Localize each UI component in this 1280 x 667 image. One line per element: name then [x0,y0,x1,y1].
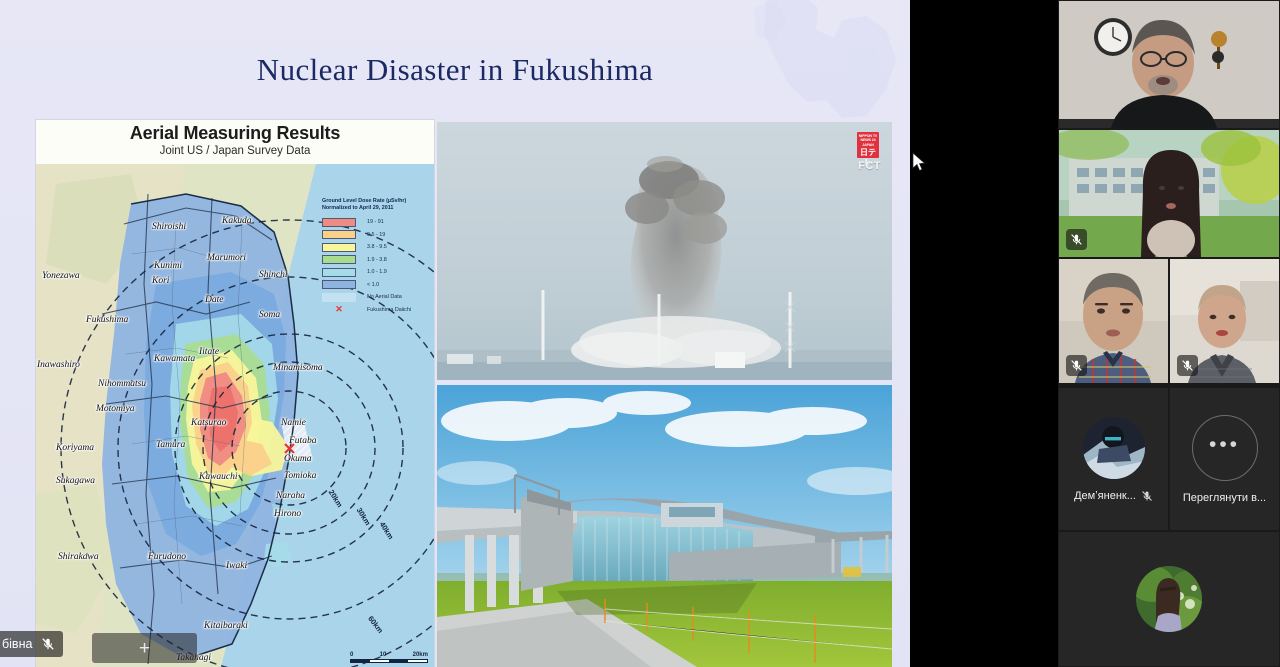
legend-label: 3.8 - 9.5 [367,244,387,250]
legend-title-line2: Normalized to April 29, 2011 [322,205,430,212]
map-city-label: Kunimi [154,261,182,271]
legend-site-marker: ✕ [322,305,356,314]
map-title: Aerial Measuring Results [36,123,434,144]
map-subtitle: Joint US / Japan Survey Data [36,145,434,157]
map-city-label: Nihommatsu [98,379,146,389]
legend-title-line1: Ground Level Dose Rate (µSv/hr) [322,198,430,205]
map-city-label: Motomiya [96,404,135,414]
legend-label: 1.0 - 1.9 [367,269,387,275]
zoom-in-icon[interactable]: + [139,639,150,658]
mic-muted-icon [1066,355,1087,376]
map-city-label: Katsurao [191,418,226,428]
legend-label: 9.5 - 19 [367,232,385,238]
map-city-label: Kitaibaraki [204,621,248,631]
map-city-label: Okuma [284,454,311,464]
map-city-label: Iwaki [226,561,247,571]
map-city-label: Kawamata [154,354,195,364]
map-city-label: Furudono [148,552,186,562]
map-city-label: Shiroishi [152,222,186,232]
slide-title: Nuclear Disaster in Fukushima [0,52,910,88]
mouse-cursor [912,152,926,172]
tile-avatar-demyanenko[interactable]: Демʼяненк... [1059,388,1168,530]
tile-speaker-video[interactable] [1059,1,1279,128]
legend-row: 3.8 - 9.5 [322,242,430,253]
legend-row: 1.9 - 3.8 [322,254,430,265]
photo-modern-building [437,385,892,667]
map-city-label: Hirono [274,509,301,519]
speaker-webcam-frame [1059,1,1279,128]
meeting-screen: Nuclear Disaster in Fukushima Aerial Mea… [0,0,1280,667]
zoom-control-overlay[interactable]: + [92,633,197,663]
nippon-tv-logo: NIPPON TV NEWS 24 JAPAN 日テレ [857,132,879,158]
map-header: Aerial Measuring Results Joint US / Japa… [36,120,434,164]
avatar-name: Демʼяненк... [1074,490,1136,502]
map-city-label: Marumori [207,253,246,263]
map-city-label: Inawashiro [37,360,80,370]
presenter-name: бівна [2,637,32,651]
legend-swatch [322,218,356,227]
legend-swatch [322,230,356,239]
map-city-label: Tamura [156,440,185,450]
legend-label: 19 - 91 [367,219,384,225]
legend-row: 1.0 - 1.9 [322,267,430,278]
ellipsis-icon[interactable]: ••• [1209,434,1240,455]
map-city-label: Shirakawa [58,552,99,562]
photo-reactor-explosion: NIPPON TV NEWS 24 JAPAN 日テレ FCT [437,122,892,380]
tile-participant-2[interactable] [1059,130,1279,257]
legend-swatch [322,243,356,252]
explosion-illustration [437,122,892,380]
legend-label: 1.9 - 3.8 [367,257,387,263]
legend-label-nodata: No Aerial Data [367,294,402,300]
avatar-image [1083,417,1145,479]
legend-swatch [322,280,356,289]
tile-view-more-participants[interactable]: ••• Переглянути в... [1170,388,1279,530]
avatar [1136,566,1202,632]
avatar-image [1136,566,1202,632]
mic-muted-icon [1066,229,1087,250]
tile-participant-3[interactable] [1059,259,1168,383]
legend-row: 9.5 - 19 [322,229,430,240]
map-city-label: Yonezawa [42,271,80,281]
map-city-label: Tomioka [284,471,316,481]
map-body: Yonezawa Shiroishi Kakuda Kunimi Kori Ma… [36,164,434,667]
view-more-label: Переглянути в... [1183,492,1266,504]
legend-swatch [322,268,356,277]
map-city-label: Shinchi [259,270,288,280]
map-city-label: Kawauchi [199,472,238,482]
mic-muted-icon [41,637,55,651]
legend-swatch [322,255,356,264]
legend-row-nodata: No Aerial Data [322,292,430,303]
map-city-label: Namie [281,418,306,428]
map-city-label: Sukagawa [56,476,95,486]
scalebar-right: 20km [413,652,428,658]
map-city-label: Fukushima [86,315,128,325]
legend-row: 19 - 91 [322,217,430,228]
legend-row: < 1.0 [322,279,430,290]
tile-participant-4[interactable] [1170,259,1279,383]
map-city-label: Iitate [199,347,219,357]
shared-screen-stage[interactable]: Nuclear Disaster in Fukushima Aerial Mea… [0,0,1058,667]
participant-2-webcam-frame [1059,130,1279,257]
map-scalebar: 0 10 20km [350,652,428,663]
legend-label: < 1.0 [367,282,379,288]
map-city-label: Kakuda [222,216,252,226]
map-city-label: Futaba [289,436,316,446]
legend-label-site: Fukushima Daiichi [367,307,411,313]
legend-row-site: ✕ Fukushima Daiichi [322,304,430,315]
building-illustration [437,385,892,667]
mic-muted-icon [1141,490,1153,502]
map-city-label: Minamisoma [273,363,323,373]
avatar-name-row: Демʼяненк... [1074,490,1153,502]
map-city-label: Naraha [276,491,305,501]
station-callsign: FCT [858,160,881,172]
map-city-label: Date [205,295,223,305]
legend-swatch-nodata [322,293,356,302]
aerial-measuring-map: Aerial Measuring Results Joint US / Japa… [36,120,434,667]
scalebar-mid: 10 [380,652,387,658]
presenter-name-overlay: бівна [0,631,63,657]
map-city-label: Soma [259,310,280,320]
mic-muted-icon [1177,355,1198,376]
scalebar-left: 0 [350,652,353,658]
map-city-label: Kori [152,276,169,286]
map-city-label: Koriyama [56,443,94,453]
participant-filmstrip[interactable]: Демʼяненк... ••• Переглянути в... [1058,0,1280,667]
tile-avatar-bottom[interactable] [1059,532,1279,666]
avatar [1083,417,1145,479]
map-legend: Ground Level Dose Rate (µSv/hr) Normaliz… [322,198,430,317]
presentation-slide: Nuclear Disaster in Fukushima Aerial Mea… [0,0,910,667]
view-more-label-row: Переглянути в... [1183,492,1266,504]
more-participants-circle[interactable]: ••• [1192,415,1258,481]
tv-logo-line3: JAPAN [857,143,879,147]
